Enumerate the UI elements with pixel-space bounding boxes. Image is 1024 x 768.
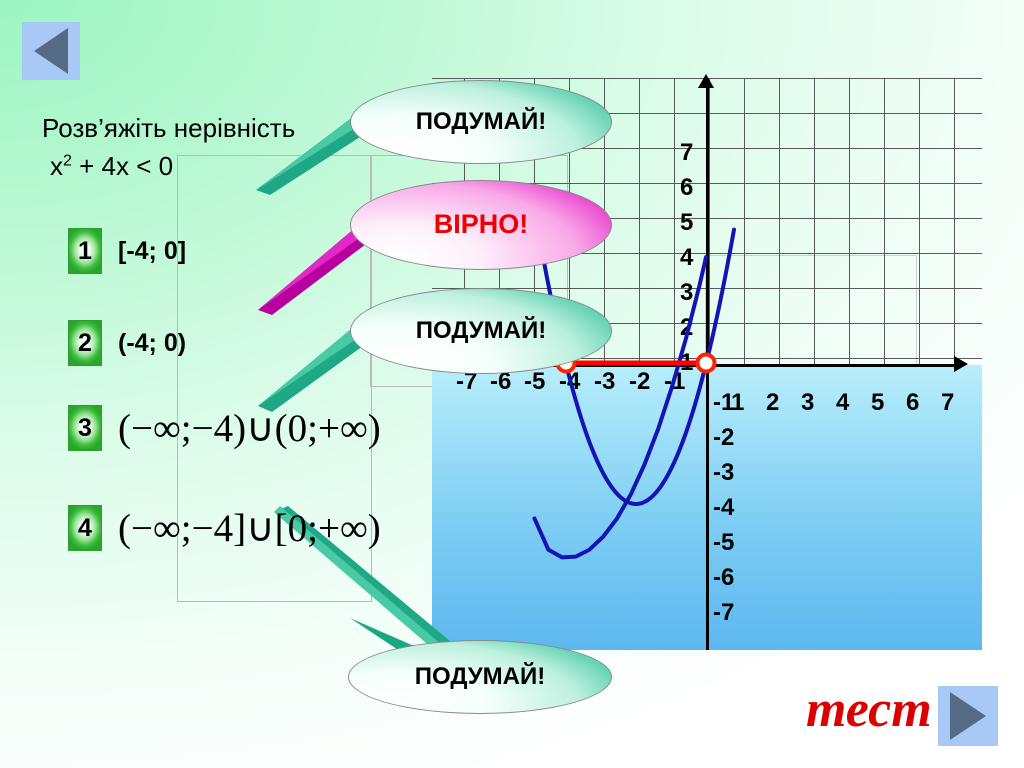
forward-arrow-icon [950, 692, 986, 740]
callout-text-bottom: ПОДУМАЙ! [415, 665, 546, 689]
prompt-exponent: 2 [63, 152, 72, 169]
answer-option-3[interactable]: 3 (−∞;−4)∪(0;+∞) [68, 405, 381, 451]
back-button[interactable] [22, 22, 80, 80]
callout-bubble-virno: ВІРНО! [350, 180, 612, 270]
prompt-x: x [50, 151, 63, 181]
callout-bubble-top: ПОДУМАЙ! [350, 80, 612, 164]
answer-text-3[interactable]: (−∞;−4)∪(0;+∞) [118, 406, 381, 451]
callout-text-middle: ПОДУМАЙ! [416, 319, 547, 343]
callout-text-top: ПОДУМАЙ! [416, 110, 547, 134]
answer-text-1[interactable]: [-4; 0] [118, 237, 186, 266]
answer-text-2[interactable]: (-4; 0) [118, 329, 186, 358]
test-label: тест [806, 680, 932, 739]
answer-text-4[interactable]: (−∞;−4]∪[0;+∞) [118, 506, 381, 551]
callout-podumay-middle[interactable]: ПОДУМАЙ! [250, 288, 620, 408]
answer-badge-4[interactable]: 4 [68, 505, 102, 551]
answer-option-2[interactable]: 2 (-4; 0) [68, 320, 186, 366]
answer-option-4[interactable]: 4 (−∞;−4]∪[0;+∞) [68, 505, 381, 551]
slide-canvas: Розв’яжіть нерівність x2 + 4x < 0 -7 -6 … [0, 0, 1024, 768]
callout-text-virno: ВІРНО! [434, 211, 529, 239]
answer-badge-3[interactable]: 3 [68, 405, 102, 451]
callout-bubble-middle: ПОДУМАЙ! [350, 288, 612, 374]
answer-badge-2[interactable]: 2 [68, 320, 102, 366]
forward-button[interactable] [938, 686, 998, 746]
prompt-rest: + 4x < 0 [72, 151, 173, 181]
answer-badge-1[interactable]: 1 [68, 228, 102, 274]
callout-podumay-top[interactable]: ПОДУМАЙ! [250, 80, 620, 190]
callout-bubble-bottom: ПОДУМАЙ! [348, 640, 612, 714]
prompt-line-2: x2 + 4x < 0 [50, 150, 173, 183]
back-arrow-icon [34, 28, 68, 74]
answer-option-1[interactable]: 1 [-4; 0] [68, 228, 186, 274]
